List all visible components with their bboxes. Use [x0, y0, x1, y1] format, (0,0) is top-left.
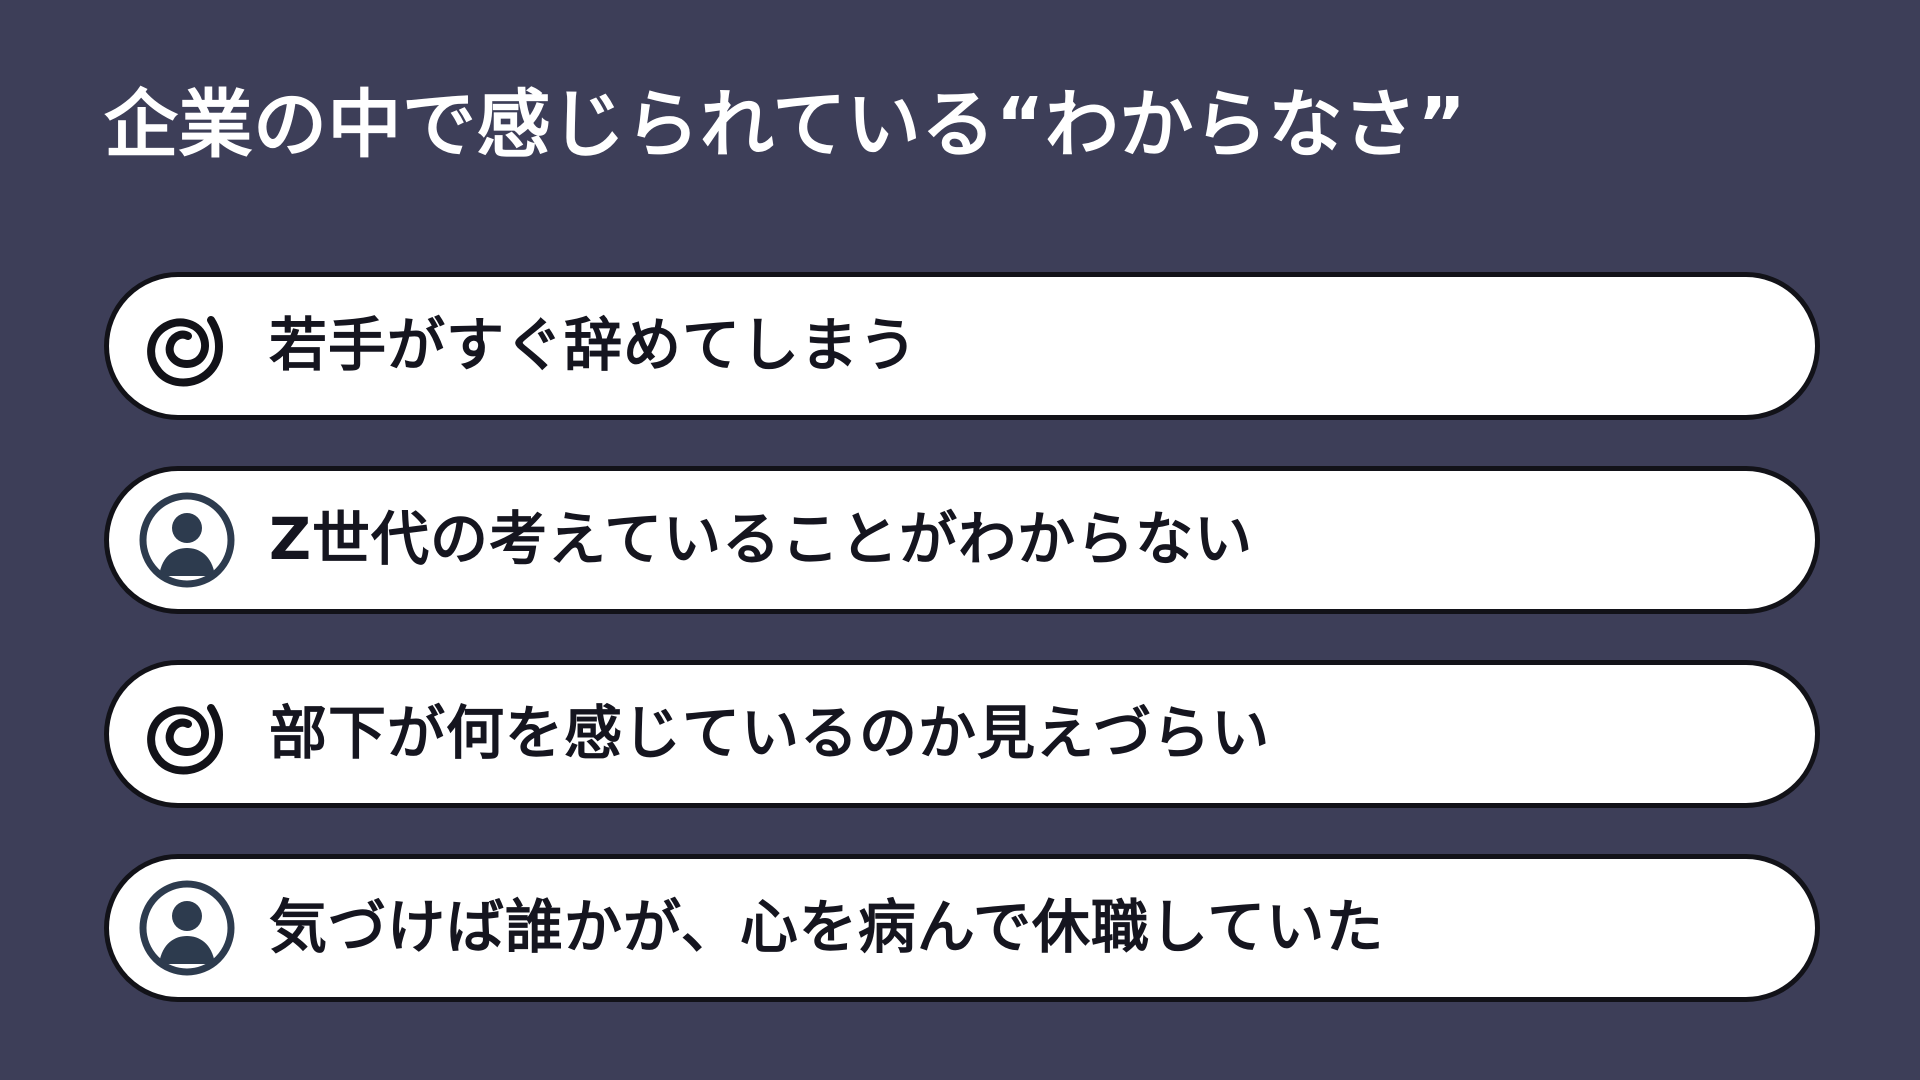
person-avatar-icon — [135, 488, 239, 592]
spiral-icon — [135, 294, 239, 398]
list-item[interactable]: Z世代の考えていることがわからない — [104, 466, 1820, 614]
list-item-label: 若手がすぐ辞めてしまう — [269, 314, 1815, 378]
list-item[interactable]: 若手がすぐ辞めてしまう — [104, 272, 1820, 420]
list-item[interactable]: 部下が何を感じているのか見えづらい — [104, 660, 1820, 808]
slide-canvas: 企業の中で感じられている“わからなさ” 若手がすぐ辞めてしまう Z世代の考えてい… — [0, 0, 1920, 1080]
spiral-icon — [135, 682, 239, 786]
list-item-label: 気づけば誰かが、心を病んで休職していた — [269, 896, 1815, 960]
pill-list: 若手がすぐ辞めてしまう Z世代の考えていることがわからない 部下が何を感じている… — [104, 272, 1820, 1048]
list-item[interactable]: 気づけば誰かが、心を病んで休職していた — [104, 854, 1820, 1002]
page-title: 企業の中で感じられている“わからなさ” — [104, 88, 1864, 162]
list-item-label: Z世代の考えていることがわからない — [269, 508, 1815, 572]
list-item-label: 部下が何を感じているのか見えづらい — [269, 702, 1815, 766]
person-avatar-icon — [135, 876, 239, 980]
